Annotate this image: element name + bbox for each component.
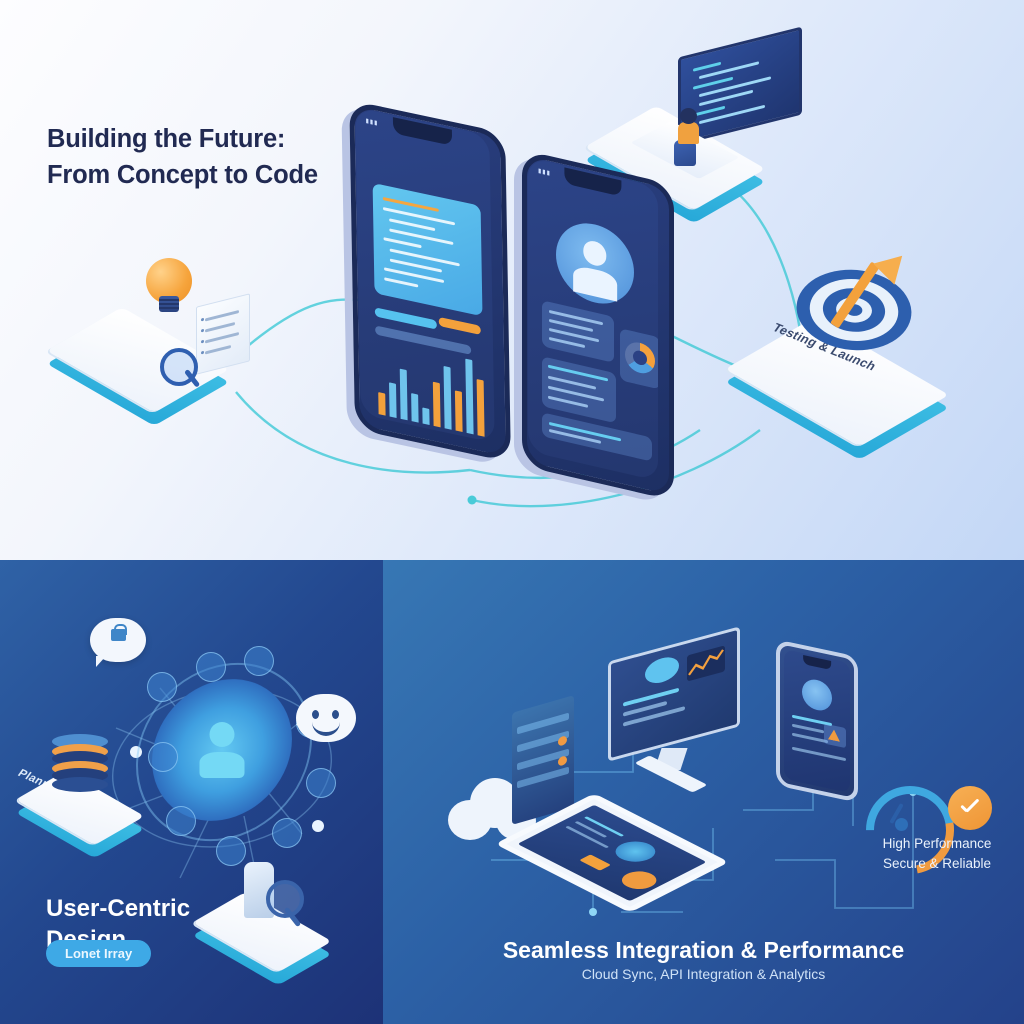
- lightbulb-icon: [146, 258, 192, 316]
- hub-node-user[interactable]: [148, 742, 178, 772]
- phone-code-editor[interactable]: ▮▮▮: [349, 100, 501, 450]
- server-rack-icon: [512, 695, 574, 825]
- hub-user-avatar-icon: [196, 722, 248, 778]
- page-title: Building the Future: From Concept to Cod…: [47, 121, 318, 193]
- hub-node-user[interactable]: [244, 646, 274, 676]
- donut-chart: [625, 339, 655, 376]
- progress-bar-secondary: [439, 317, 481, 335]
- hub-node-user[interactable]: [272, 818, 302, 848]
- document-icon: [196, 293, 250, 374]
- infographic-canvas: Building the Future: From Concept to Cod…: [0, 0, 1024, 1024]
- target-icon: [806, 262, 902, 358]
- hub-node-user[interactable]: [216, 836, 246, 866]
- hub-node-user[interactable]: [306, 768, 336, 798]
- list-card: [542, 356, 616, 423]
- info-card: [542, 300, 614, 363]
- hub-node-user[interactable]: [196, 652, 226, 682]
- smartphone-icon[interactable]: [776, 639, 858, 802]
- bottom-right-subtitle: Cloud Sync, API Integration & Analytics: [383, 966, 1024, 982]
- code-editor-card: [373, 183, 483, 316]
- user-research-station: [214, 862, 322, 954]
- bottom-right-title: Seamless Integration & Performance: [383, 937, 1024, 964]
- smiley-bubble-icon: [296, 694, 356, 742]
- mini-area-chart: [687, 645, 725, 681]
- hub-node-user[interactable]: [147, 672, 177, 702]
- magnifier-icon: [160, 348, 194, 382]
- status-bar: ▮▮▮: [365, 117, 378, 127]
- database-stack-icon: [52, 734, 108, 792]
- status-badge[interactable]: Lonet Irray: [46, 940, 151, 967]
- avatar: [556, 215, 634, 311]
- hub-node-user[interactable]: [166, 806, 196, 836]
- chart-card: [620, 328, 658, 389]
- status-bar: ▮▮▮: [538, 167, 551, 177]
- check-circle-icon: [948, 786, 992, 830]
- cloud-dashboard-icon: [645, 654, 679, 687]
- developer-body: [678, 122, 699, 144]
- orange-badge-icon: [615, 868, 664, 893]
- performance-caption: High Performance Secure & Reliable: [862, 834, 1012, 873]
- top-panel-concept-to-code: Building the Future: From Concept to Cod…: [0, 0, 1024, 560]
- phone-user-profile[interactable]: ▮▮▮: [522, 150, 664, 489]
- avatar: [802, 677, 832, 713]
- progress-bar-primary: [375, 307, 437, 329]
- developer-head: [680, 108, 697, 124]
- cloud-badge-icon: [607, 837, 663, 866]
- footer-card: [542, 412, 652, 461]
- lock-bubble-icon: [90, 618, 146, 662]
- speedometer-icon: [866, 786, 938, 826]
